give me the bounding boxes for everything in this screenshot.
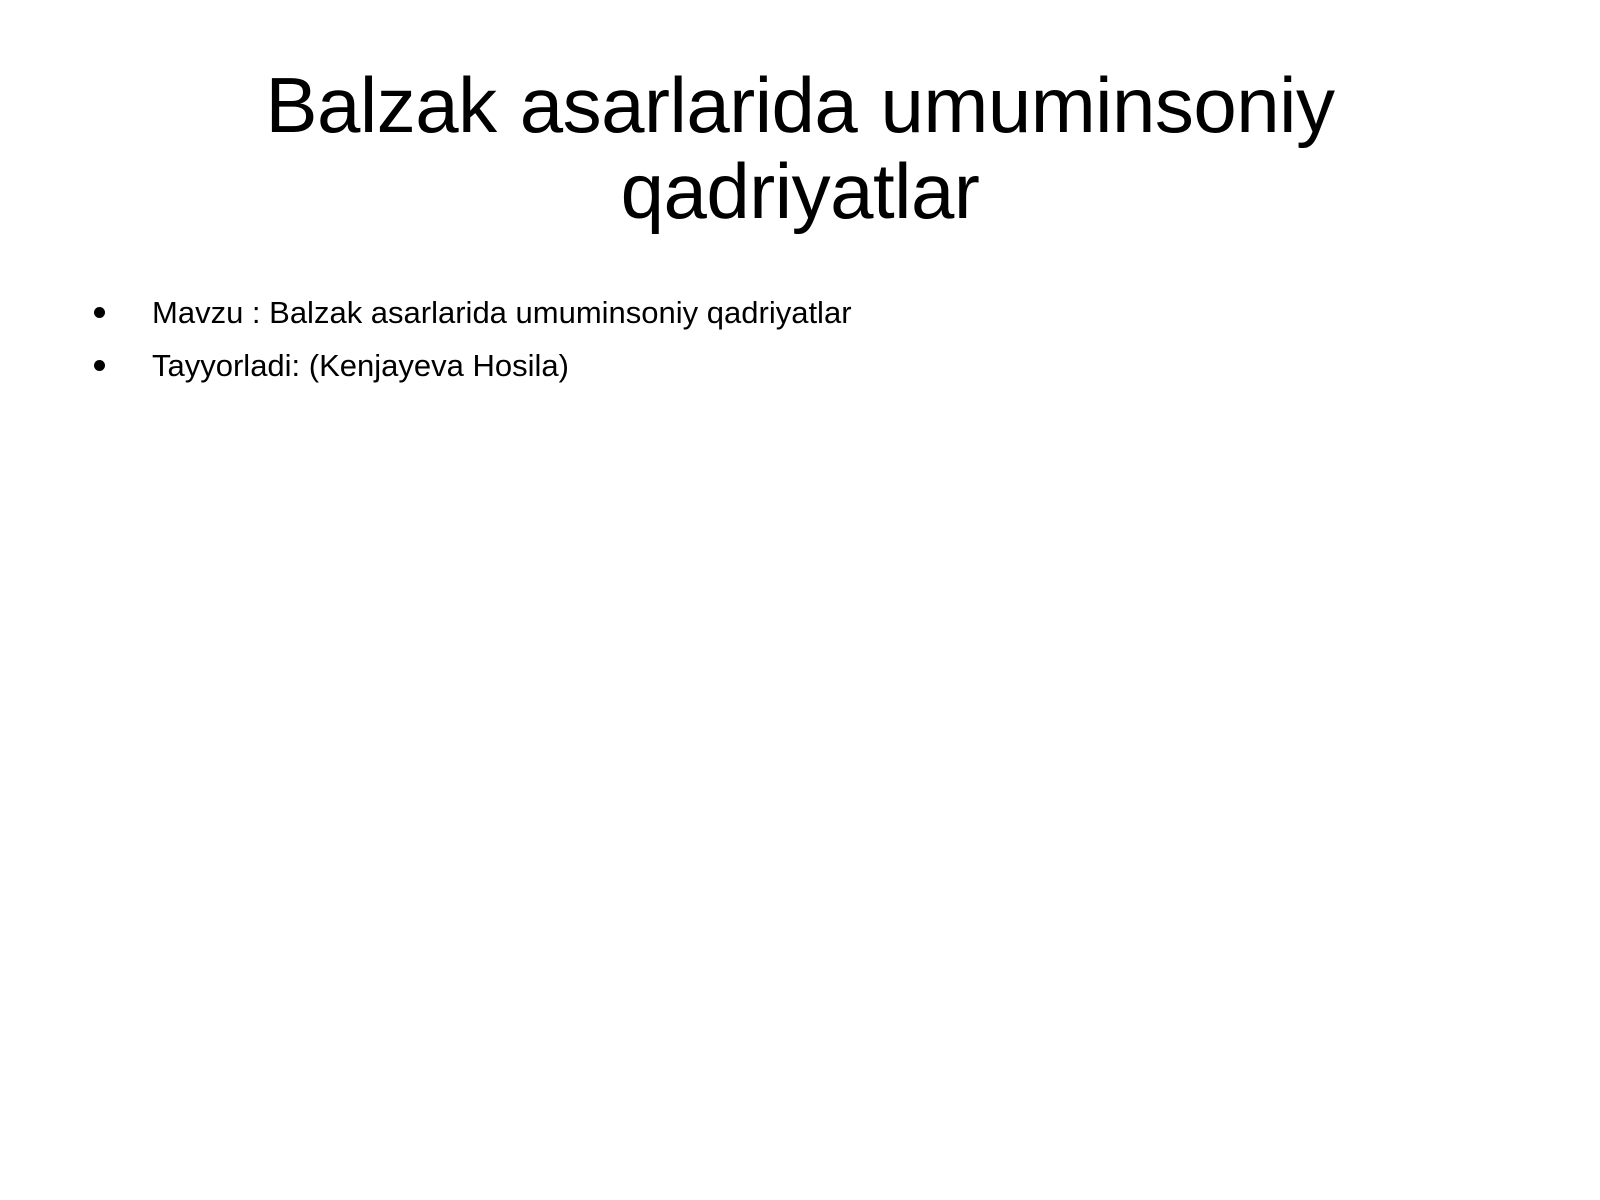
title-line-2: qadriyatlar [621,147,980,235]
list-item[interactable]: Tayyorladi: (Kenjayeva Hosila) [80,339,1530,392]
bullet-list: Mavzu : Balzak asarlarida umuminsoniy qa… [80,286,1530,392]
list-item[interactable]: Mavzu : Balzak asarlarida umuminsoniy qa… [80,286,1530,339]
bullet-dot-icon [94,307,105,318]
bullet-dot-icon [94,360,105,371]
title-line-1: Balzak asarlarida umuminsoniy [266,61,1335,149]
list-item-label: Tayyorladi: (Kenjayeva Hosila) [152,339,569,392]
title-placeholder[interactable]: Balzak asarlarida umuminsoniy qadriyatla… [160,62,1440,234]
page-title: Balzak asarlarida umuminsoniy qadriyatla… [160,62,1440,234]
list-item-label: Mavzu : Balzak asarlarida umuminsoniy qa… [152,286,852,339]
presentation-slide: Balzak asarlarida umuminsoniy qadriyatla… [0,0,1600,1200]
content-placeholder[interactable]: Mavzu : Balzak asarlarida umuminsoniy qa… [80,286,1530,392]
